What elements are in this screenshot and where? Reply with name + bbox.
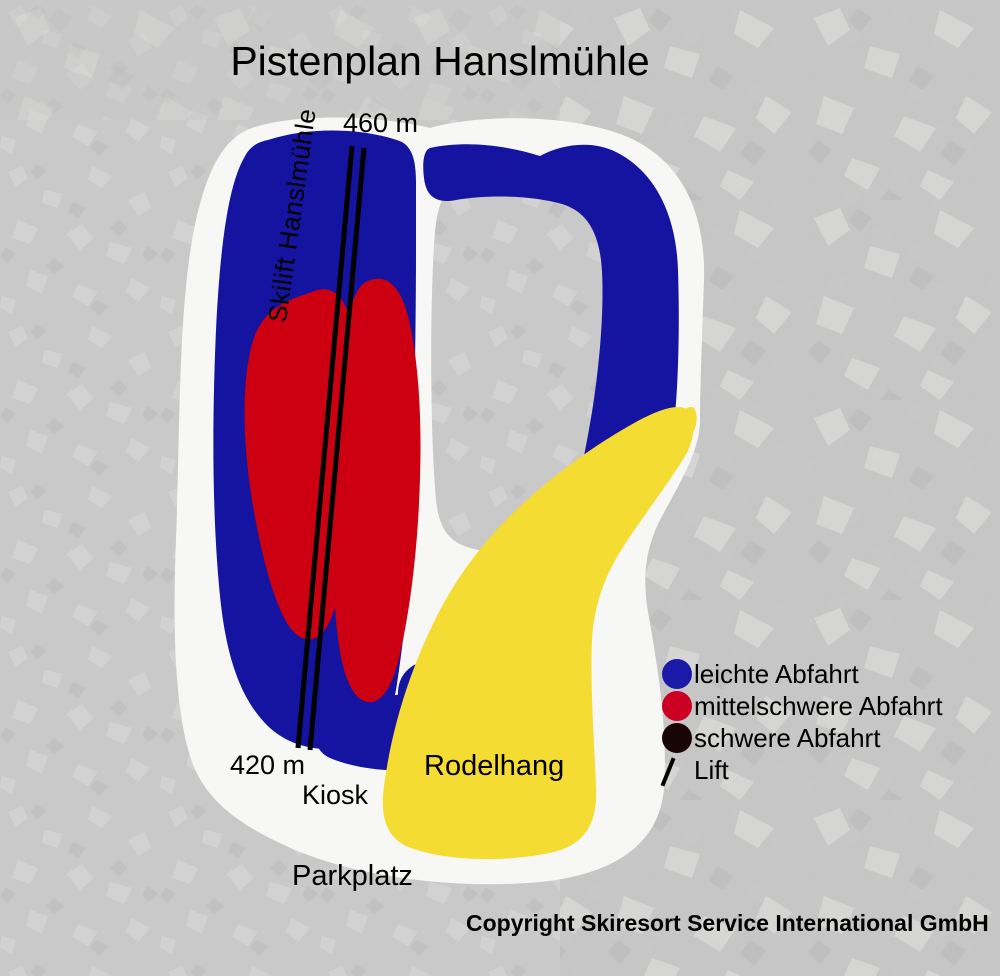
legend-item-lift: Lift xyxy=(662,754,1000,785)
label-base-elevation: 420 m xyxy=(230,750,305,781)
copyright-notice: Copyright Skiresort Service Internationa… xyxy=(466,910,989,937)
legend-label-easy: leichte Abfahrt xyxy=(694,661,859,687)
legend-label-medium: mittelschwere Abfahrt xyxy=(694,693,943,719)
label-parkplatz: Parkplatz xyxy=(292,860,413,893)
piste-map-graphic xyxy=(0,0,1000,976)
legend-item-medium: mittelschwere Abfahrt xyxy=(662,690,1000,721)
legend-item-hard: schwere Abfahrt xyxy=(662,722,1000,753)
legend-label-lift: Lift xyxy=(694,757,729,783)
easy-piste-circle-icon xyxy=(662,659,692,689)
map-legend: leichte Abfahrt mittelschwere Abfahrt sc… xyxy=(662,658,1000,786)
label-rodelhang: Rodelhang xyxy=(424,750,564,783)
page-title: Pistenplan Hanslmühle xyxy=(0,38,880,85)
medium-piste-circle-icon xyxy=(662,691,692,721)
lift-diagonal-line-icon xyxy=(662,755,692,785)
piste-map-canvas: Pistenplan Hanslmühle 460 m 420 m Kiosk … xyxy=(0,0,1000,976)
legend-label-hard: schwere Abfahrt xyxy=(694,725,880,751)
label-kiosk: Kiosk xyxy=(302,780,368,811)
label-summit-elevation: 460 m xyxy=(343,108,418,139)
legend-item-easy: leichte Abfahrt xyxy=(662,658,1000,689)
hard-piste-circle-icon xyxy=(662,723,692,753)
